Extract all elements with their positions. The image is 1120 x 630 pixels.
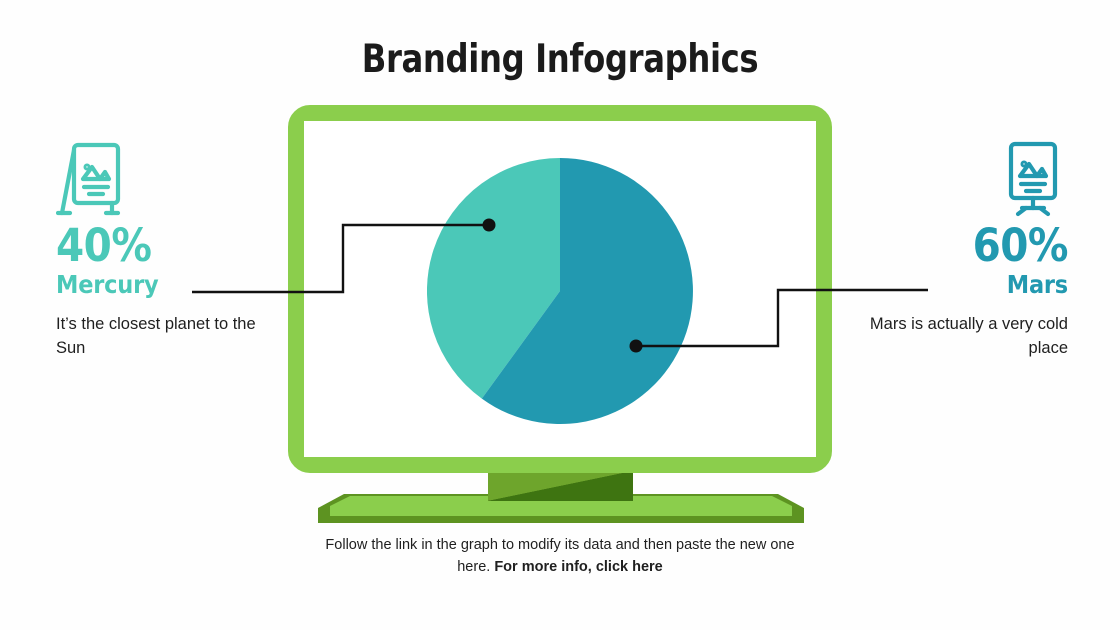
pie-chart-svg xyxy=(427,158,693,424)
mercury-description: It’s the closest planet to the Sun xyxy=(56,312,286,360)
billboard-sign-icon xyxy=(998,140,1068,218)
caption-link[interactable]: For more info, click here xyxy=(494,559,662,575)
pie-chart[interactable] xyxy=(427,158,693,424)
panel-mercury: 40% Mercury It’s the closest planet to t… xyxy=(56,140,286,360)
mars-percent: 60% xyxy=(838,222,1068,270)
chart-caption: Follow the link in the graph to modify i… xyxy=(310,534,810,578)
mars-description: Mars is actually a very cold place xyxy=(838,312,1068,360)
easel-sign-icon xyxy=(56,140,126,218)
mercury-percent: 40% xyxy=(56,222,286,270)
panel-mars: 60% Mars Mars is actually a very cold pl… xyxy=(838,140,1068,360)
easel-sign-icon-row xyxy=(56,140,286,222)
mars-planet-label: Mars xyxy=(838,270,1068,300)
mercury-planet-label: Mercury xyxy=(56,270,286,300)
slide-canvas: Branding Infographics xyxy=(0,0,1120,630)
monitor-stand-neck xyxy=(488,471,633,501)
billboard-sign-icon-row xyxy=(838,140,1068,222)
page-title: Branding Infographics xyxy=(45,40,1075,79)
